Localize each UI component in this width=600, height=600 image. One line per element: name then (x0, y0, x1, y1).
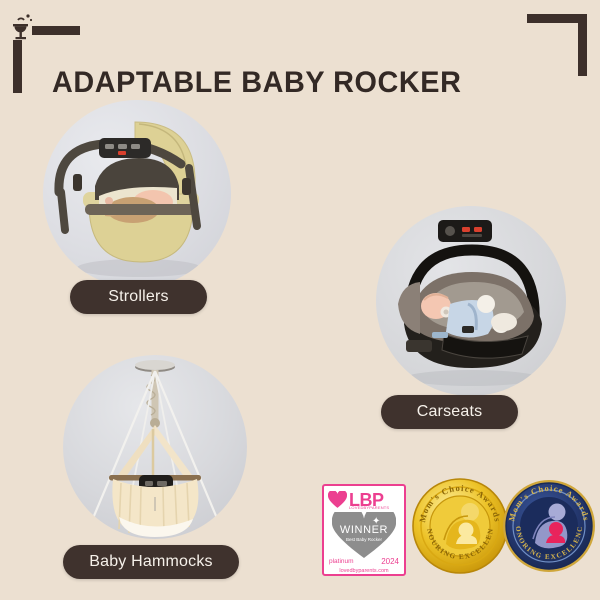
lbp-subwordmark: LOVEDBYPARENTS (349, 505, 389, 510)
product-image-hammocks (63, 355, 247, 539)
corner-bracket-top-right-vertical (578, 14, 587, 76)
lbp-year-text: 2024 (381, 557, 399, 566)
lbp-url-text: lovedbyparents.com (324, 568, 404, 574)
lbp-category-text: Best Baby Rocker (324, 537, 404, 542)
award-badges: LBP LOVEDBYPARENTS ✦ WINNER Best Baby Ro… (322, 478, 594, 574)
product-image-strollers (43, 100, 231, 288)
page-title: ADAPTABLE BABY ROCKER (52, 66, 461, 100)
award-badge-mca-gold[interactable]: Mom's Choice Awards HONOURING EXCELLENCE (412, 478, 508, 574)
award-badge-mca-blue[interactable]: Mom's Choice Awards HONORING EXCELLENCE (502, 479, 596, 573)
category-pill-strollers[interactable]: Strollers (70, 280, 207, 314)
hammock-illustration (63, 355, 247, 539)
corner-bracket-top-left-horizontal (32, 26, 80, 35)
heart-icon (328, 491, 347, 509)
category-pill-label: Baby Hammocks (89, 553, 213, 571)
carseat-illustration (376, 206, 566, 396)
category-pill-label: Carseats (417, 403, 483, 421)
corner-bracket-top-left-vertical (13, 40, 22, 93)
poster-canvas: ADAPTABLE BABY ROCKER (0, 0, 600, 600)
award-badge-lbp[interactable]: LBP LOVEDBYPARENTS ✦ WINNER Best Baby Ro… (322, 484, 406, 576)
product-image-carseats (376, 206, 566, 396)
category-pill-carseats[interactable]: Carseats (381, 395, 518, 429)
lbp-tier-text: platinum (329, 558, 354, 565)
category-pill-label: Strollers (108, 288, 168, 306)
stroller-illustration (43, 100, 231, 288)
lbp-result-text: WINNER (324, 524, 404, 536)
category-pill-hammocks[interactable]: Baby Hammocks (63, 545, 239, 579)
baby-rocker-logo-icon (9, 12, 35, 42)
